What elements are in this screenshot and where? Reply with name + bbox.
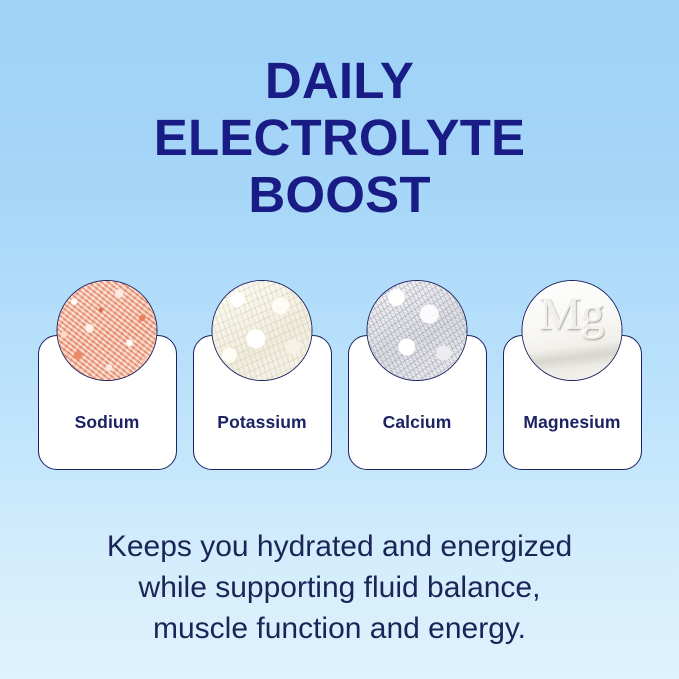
potassium-swatch-icon xyxy=(212,280,313,381)
ingredient-card-sodium: Sodium xyxy=(38,335,177,470)
calcium-swatch-icon xyxy=(367,280,468,381)
magnesium-tablet-texture: Mg xyxy=(522,280,623,381)
benefit-line-3: muscle function and energy. xyxy=(30,608,650,649)
headline-line-1: DAILY xyxy=(40,52,640,109)
sodium-swatch-icon xyxy=(57,280,158,381)
ingredient-card-magnesium: Mg Magnesium xyxy=(503,335,642,470)
mg-emboss-icon: Mg xyxy=(522,291,623,338)
grey-powder-texture xyxy=(367,280,468,381)
benefit-line-1: Keeps you hydrated and energized xyxy=(30,526,650,567)
pink-salt-texture xyxy=(57,280,158,381)
ingredient-card-calcium: Calcium xyxy=(348,335,487,470)
cream-powder-texture xyxy=(212,280,313,381)
page-title: DAILY ELECTROLYTE BOOST xyxy=(40,52,640,223)
ingredient-label-magnesium: Magnesium xyxy=(523,412,620,433)
magnesium-swatch-icon: Mg xyxy=(522,280,623,381)
ingredient-label-potassium: Potassium xyxy=(217,412,306,433)
ingredient-card-row: Sodium Potassium Calcium Mg Magnesium xyxy=(38,293,642,470)
headline-line-2: ELECTROLYTE xyxy=(40,109,640,166)
ingredient-label-sodium: Sodium xyxy=(75,412,140,433)
ingredient-card-potassium: Potassium xyxy=(193,335,332,470)
product-infographic-poster: DAILY ELECTROLYTE BOOST Sodium Potassium… xyxy=(0,0,679,679)
headline-line-3: BOOST xyxy=(40,166,640,223)
ingredient-label-calcium: Calcium xyxy=(383,412,452,433)
tablet-crease-shadow xyxy=(522,338,623,375)
benefit-description: Keeps you hydrated and energized while s… xyxy=(30,526,650,649)
benefit-line-2: while supporting fluid balance, xyxy=(30,567,650,608)
